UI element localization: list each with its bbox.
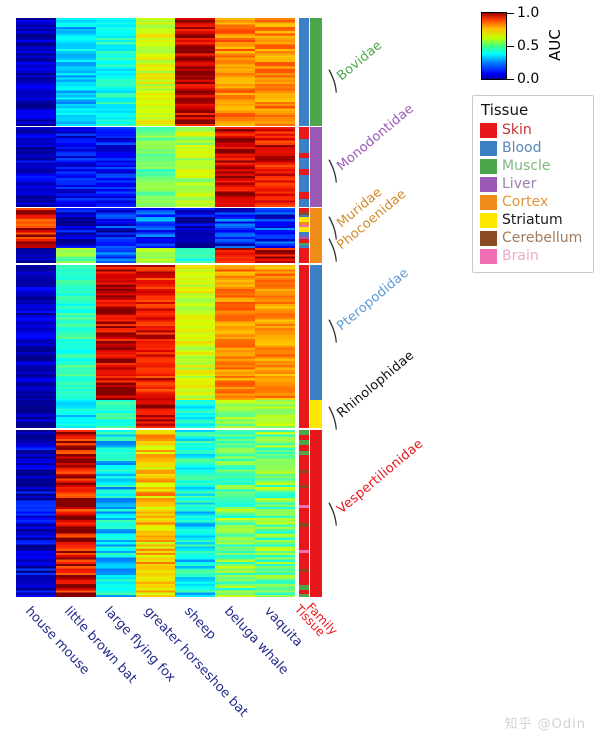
tissue-legend-item[interactable]: Blood [480, 139, 586, 157]
tissue-segment [299, 488, 309, 505]
heatmap-cell-column [136, 18, 176, 126]
heatmap-cell-column [255, 248, 295, 263]
tissue-segment [299, 553, 309, 568]
heatmap-cell-column [56, 127, 96, 206]
tissue-segment [299, 527, 309, 550]
tissue-color-swatch [480, 177, 497, 192]
family-label-text: Rhinolophidae [334, 348, 417, 421]
tissue-segment [299, 594, 309, 597]
heatmap-row-group [16, 430, 295, 597]
tissue-color-swatch [480, 213, 497, 228]
heatmap-row-group [16, 18, 295, 126]
family-segment [310, 248, 322, 263]
heatmap-cell-column [56, 18, 96, 126]
heatmap-row-group [16, 265, 295, 400]
heatmap-cell-column [96, 265, 136, 400]
heatmap-row-group [16, 248, 295, 263]
tissue-segment [299, 508, 309, 523]
heatmap-cell-column [136, 430, 176, 597]
family-label-text: Pteropodidae [334, 266, 412, 334]
tissue-legend-label: Brain [502, 249, 539, 264]
tissue-color-swatch [480, 231, 497, 246]
tissue-legend-label: Muscle [502, 159, 550, 174]
colorbar-title: AUC [546, 29, 564, 61]
colorbar-gradient [481, 12, 507, 80]
tissue-segment [299, 265, 309, 400]
family-segment [310, 430, 322, 597]
tissue-color-swatch [480, 249, 497, 264]
heatmap-cell-column [215, 208, 255, 247]
heatmap-cell-column [255, 208, 295, 247]
family-segment [310, 208, 322, 247]
family-label: ⎠Vespertilionidae [324, 434, 426, 524]
heatmap-cell-column [136, 265, 176, 400]
tissue-legend-item[interactable]: Liver [480, 175, 586, 193]
tissue-segment [299, 455, 309, 470]
tissue-legend-label: Cortex [502, 195, 548, 210]
heatmap-cell-column [215, 265, 255, 400]
heatmap-cell-column [175, 208, 215, 247]
heatmap-cell-column [255, 127, 295, 206]
tissue-legend-item[interactable]: Cerebellum [480, 229, 586, 247]
tissue-legend-label: Blood [502, 141, 542, 156]
family-label: ⎠Pteropodidae [324, 263, 412, 341]
heatmap-cell-column [56, 248, 96, 263]
x-tick-label: beluga whale [221, 604, 291, 678]
heatmap-cell-column [56, 208, 96, 247]
heatmap-cell-column [175, 18, 215, 126]
tissue-annotation-strip [299, 18, 309, 597]
heatmap-cell-column [255, 430, 295, 597]
x-tick-label: large flying fox [101, 604, 178, 685]
tissue-legend-item[interactable]: Cortex [480, 193, 586, 211]
tissue-legend-item[interactable]: Skin [480, 121, 586, 139]
heatmap-plot [16, 18, 295, 597]
x-tick-label-annotation: Family [304, 600, 341, 638]
colorbar-tick-mark [507, 13, 514, 14]
heatmap-cell-column [16, 208, 56, 247]
heatmap-cell-column [136, 248, 176, 263]
heatmap-cell-column [215, 127, 255, 206]
heatmap-row-group [16, 208, 295, 247]
tissue-segment [299, 18, 309, 126]
tissue-segment [299, 473, 309, 485]
tissue-legend-label: Cerebellum [502, 231, 582, 246]
heatmap-cell-column [215, 248, 255, 263]
heatmap-cell-column [16, 248, 56, 263]
heatmap-cell-column [96, 127, 136, 206]
colorbar-tick-mark [507, 46, 514, 47]
x-tick-label: greater horseshoe bat [141, 604, 251, 720]
tissue-legend-title: Tissue [481, 101, 586, 119]
heatmap-cell-column [56, 430, 96, 597]
heatmap-cell-column [96, 400, 136, 428]
colorbar-tick-mark [507, 79, 514, 80]
heatmap-cell-column [136, 127, 176, 206]
tissue-legend-label: Liver [502, 177, 536, 192]
watermark: 知乎 @Odin [505, 713, 586, 732]
tissue-segment [299, 175, 309, 192]
tissue-legend-label: Striatum [502, 213, 563, 228]
heatmap-cell-column [136, 400, 176, 428]
family-segment [310, 400, 322, 428]
tissue-segment [299, 139, 309, 153]
tissue-segment [299, 158, 309, 169]
heatmap-cell-column [96, 208, 136, 247]
heatmap-cell-column [175, 400, 215, 428]
tissue-legend-item[interactable]: Muscle [480, 157, 586, 175]
heatmap-cell-column [175, 248, 215, 263]
tissue-color-swatch [480, 141, 497, 156]
tissue-legend-items: SkinBloodMuscleLiverCortexStriatumCerebe… [480, 121, 586, 265]
heatmap-cell-column [16, 400, 56, 428]
family-label: ⎠Rhinolophidae [324, 346, 417, 428]
colorbar-group: 1.00.50.0 AUC [481, 12, 591, 92]
heatmap-cell-column [175, 127, 215, 206]
tissue-segment [299, 199, 309, 207]
tissue-segment [299, 127, 309, 138]
heatmap-cell-column [16, 430, 56, 597]
heatmap-cell-column [255, 265, 295, 400]
tissue-color-swatch [480, 195, 497, 210]
heatmap-row-group [16, 400, 295, 428]
heatmap-cell-column [215, 430, 255, 597]
x-tick-label-annotation: Tissue [292, 602, 328, 639]
tissue-legend: Tissue SkinBloodMuscleLiverCortexStriatu… [472, 95, 594, 273]
family-label: ⎠Bovidae [324, 36, 385, 91]
colorbar-tick-label: 0.0 [517, 71, 539, 87]
family-annotation-strip [310, 18, 322, 597]
tissue-color-swatch [480, 159, 497, 174]
heatmap-cell-column [175, 430, 215, 597]
heatmap-cell-column [215, 18, 255, 126]
family-segment [310, 265, 322, 400]
colorbar-tick-label: 1.0 [517, 5, 539, 21]
tissue-legend-label: Skin [502, 123, 532, 138]
heatmap-cell-column [96, 18, 136, 126]
heatmap-cell-column [255, 400, 295, 428]
tissue-segment [299, 248, 309, 263]
tissue-segment [299, 445, 309, 452]
heatmap-cell-column [16, 127, 56, 206]
x-tick-label: vaquita [261, 604, 305, 650]
tissue-color-swatch [480, 123, 497, 138]
tissue-segment [299, 400, 309, 428]
family-segment [310, 127, 322, 206]
colorbar-tick-label: 0.5 [517, 38, 539, 54]
x-tick-label: house mouse [22, 604, 92, 678]
heatmap-cell-column [56, 400, 96, 428]
family-label-text: Vespertilionidae [334, 436, 426, 517]
tissue-legend-item[interactable]: Brain [480, 247, 586, 265]
family-label-text: Bovidae [334, 38, 385, 84]
heatmap-cell-column [215, 400, 255, 428]
tissue-legend-item[interactable]: Striatum [480, 211, 586, 229]
heatmap-cell-column [136, 208, 176, 247]
family-segment [310, 18, 322, 126]
heatmap-cell-column [56, 265, 96, 400]
heatmap-cell-column [175, 265, 215, 400]
figure-canvas: ⎠Bovidae⎠Monodontidae⎠Muridae⎠Phocoenida… [0, 0, 600, 748]
heatmap-cell-column [16, 18, 56, 126]
heatmap-cell-column [96, 430, 136, 597]
x-tick-label: sheep [181, 604, 219, 643]
family-label: ⎠Monodontidae [324, 99, 417, 181]
family-label-text: Monodontidae [334, 101, 417, 174]
heatmap-cell-column [16, 265, 56, 400]
tissue-segment [299, 572, 309, 585]
heatmap-row-group [16, 127, 295, 206]
x-tick-label: little brown bat [61, 604, 139, 686]
heatmap-cell-column [96, 248, 136, 263]
heatmap-cell-column [255, 18, 295, 126]
